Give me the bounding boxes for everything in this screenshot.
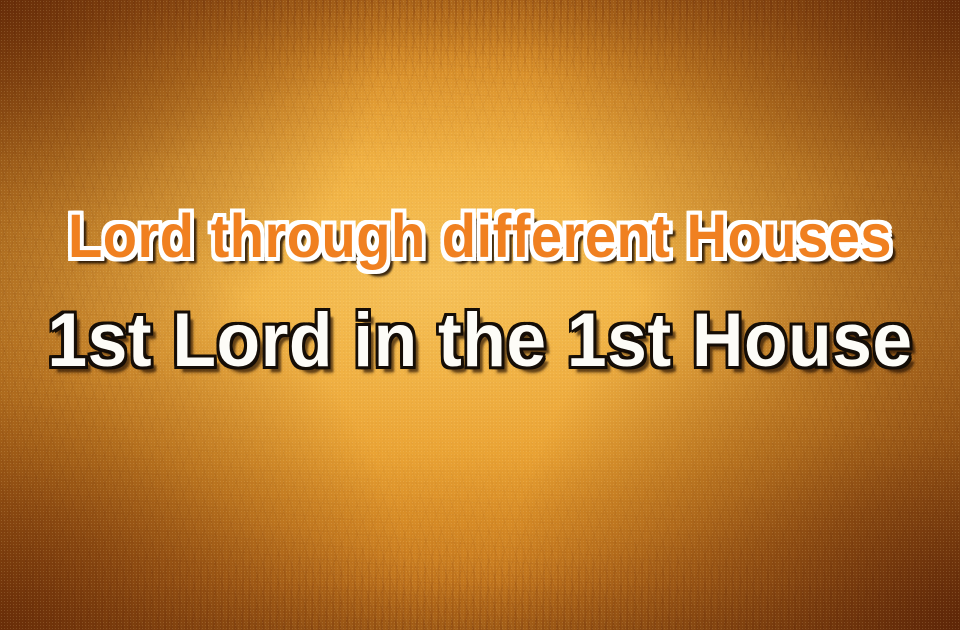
title-text-block: Lord through different Houses 1st Lord i…: [0, 206, 960, 379]
subtitle-series-heading: Lord through different Houses: [38, 206, 921, 267]
main-title-heading: 1st Lord in the 1st House: [29, 303, 931, 379]
astrology-banner: Lord through different Houses 1st Lord i…: [0, 0, 960, 630]
